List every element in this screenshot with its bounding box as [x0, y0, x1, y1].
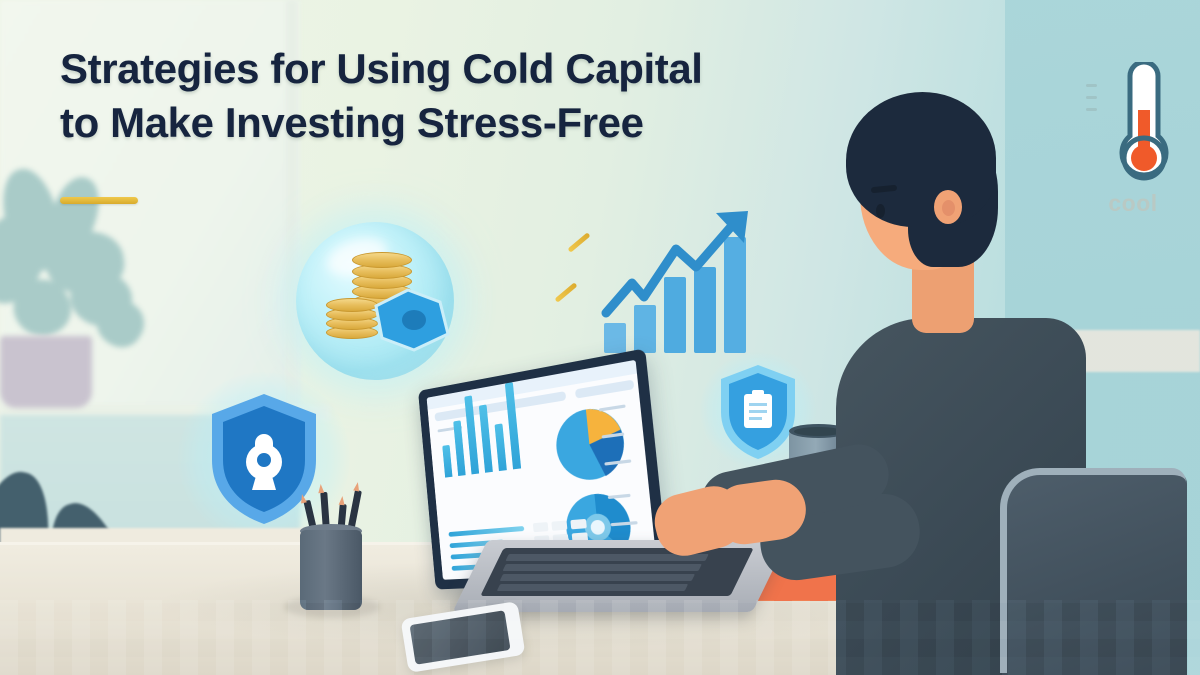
laptop-keyboard[interactable] — [480, 548, 753, 596]
banknote-icon — [368, 284, 454, 356]
banner-image: Strategies for Using Cold Capital to Mak… — [0, 0, 1200, 675]
thermometer-label: cool — [1078, 190, 1188, 217]
title-line-1: Strategies for Using Cold Capital — [60, 42, 840, 96]
person-ear-inner — [942, 200, 955, 216]
person-hair — [846, 92, 996, 227]
dashboard-pie-chart — [550, 401, 631, 487]
plant-pot — [0, 336, 92, 408]
smartphone-on-desk-screen — [409, 610, 510, 665]
thermometer-widget: cool — [1078, 62, 1188, 227]
person-eye — [876, 204, 885, 218]
growth-chart-icon — [600, 205, 765, 355]
page-title: Strategies for Using Cold Capital to Mak… — [60, 42, 840, 150]
office-chair-trim — [1000, 468, 1186, 673]
frozen-money-bubble — [296, 222, 454, 380]
title-accent-rule — [60, 197, 138, 204]
thermometer-icon — [1094, 62, 1200, 192]
person-head — [846, 92, 996, 274]
pencil-cup — [300, 530, 362, 610]
title-line-2: to Make Investing Stress-Free — [60, 96, 840, 150]
